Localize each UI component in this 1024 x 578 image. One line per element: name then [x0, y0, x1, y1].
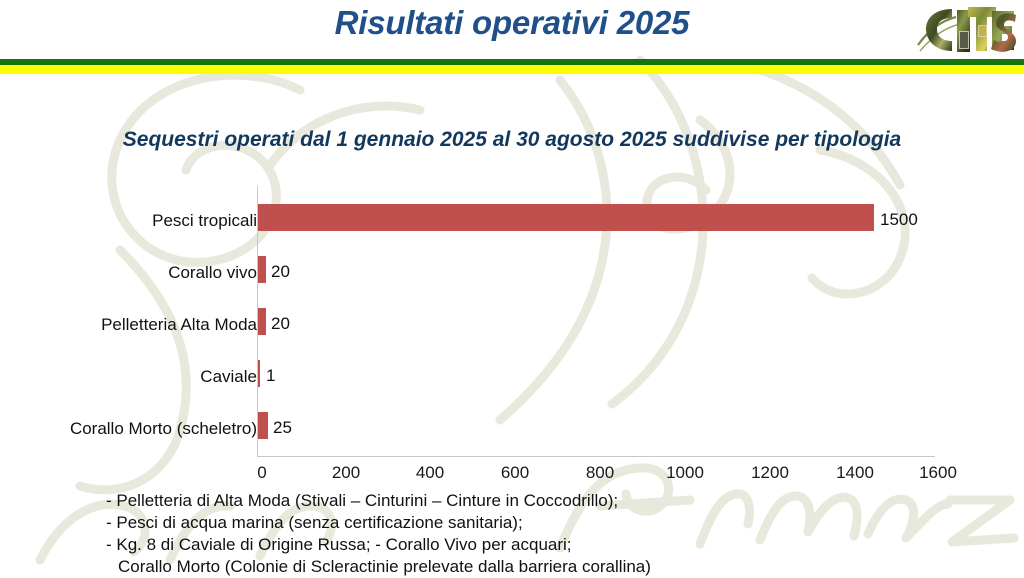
divider-yellow	[0, 65, 1024, 74]
x-tick-3: 600	[501, 464, 529, 481]
cites-logo	[916, 1, 1020, 57]
x-tick-2: 400	[416, 464, 444, 481]
category-label-2: Pelletteria Alta Moda	[101, 316, 257, 333]
bar-chart: Pesci tropicali Corallo vivo Pelletteria…	[0, 186, 1024, 486]
notes-block: - Pelletteria di Alta Moda (Stivali – Ci…	[106, 490, 966, 578]
category-label-0: Pesci tropicali	[152, 212, 257, 229]
category-label-1: Corallo vivo	[168, 264, 257, 281]
x-tick-1: 200	[332, 464, 360, 481]
slide-header: Risultati operativi 2025	[0, 0, 1024, 58]
bar-4	[258, 412, 268, 439]
x-tick-4: 800	[586, 464, 614, 481]
bar-1	[258, 256, 266, 283]
x-axis-line	[257, 456, 935, 457]
bar-value-2: 20	[271, 315, 290, 332]
bar-value-0: 1500	[880, 211, 918, 228]
x-tick-7: 1400	[836, 464, 874, 481]
bar-value-4: 25	[273, 419, 292, 436]
bar-2	[258, 308, 266, 335]
bar-0	[258, 204, 874, 231]
x-tick-6: 1200	[751, 464, 789, 481]
chart-title: Sequestri operati dal 1 gennaio 2025 al …	[0, 128, 1024, 152]
bar-value-1: 20	[271, 263, 290, 280]
category-label-3: Caviale	[200, 368, 257, 385]
note-line-0: - Pelletteria di Alta Moda (Stivali – Ci…	[106, 490, 966, 512]
note-line-2: - Kg. 8 di Caviale di Origine Russa; - C…	[106, 534, 966, 556]
x-tick-5: 1000	[666, 464, 704, 481]
bar-3	[258, 360, 260, 387]
bar-value-3: 1	[266, 367, 275, 384]
x-tick-0: 0	[257, 464, 266, 481]
x-tick-8: 1600	[919, 464, 957, 481]
note-line-1: - Pesci di acqua marina (senza certifica…	[106, 512, 966, 534]
category-label-4: Corallo Morto (scheletro)	[70, 420, 257, 437]
note-line-3: Corallo Morto (Colonie di Scleractinie p…	[106, 556, 966, 578]
page-title: Risultati operativi 2025	[0, 4, 1024, 42]
